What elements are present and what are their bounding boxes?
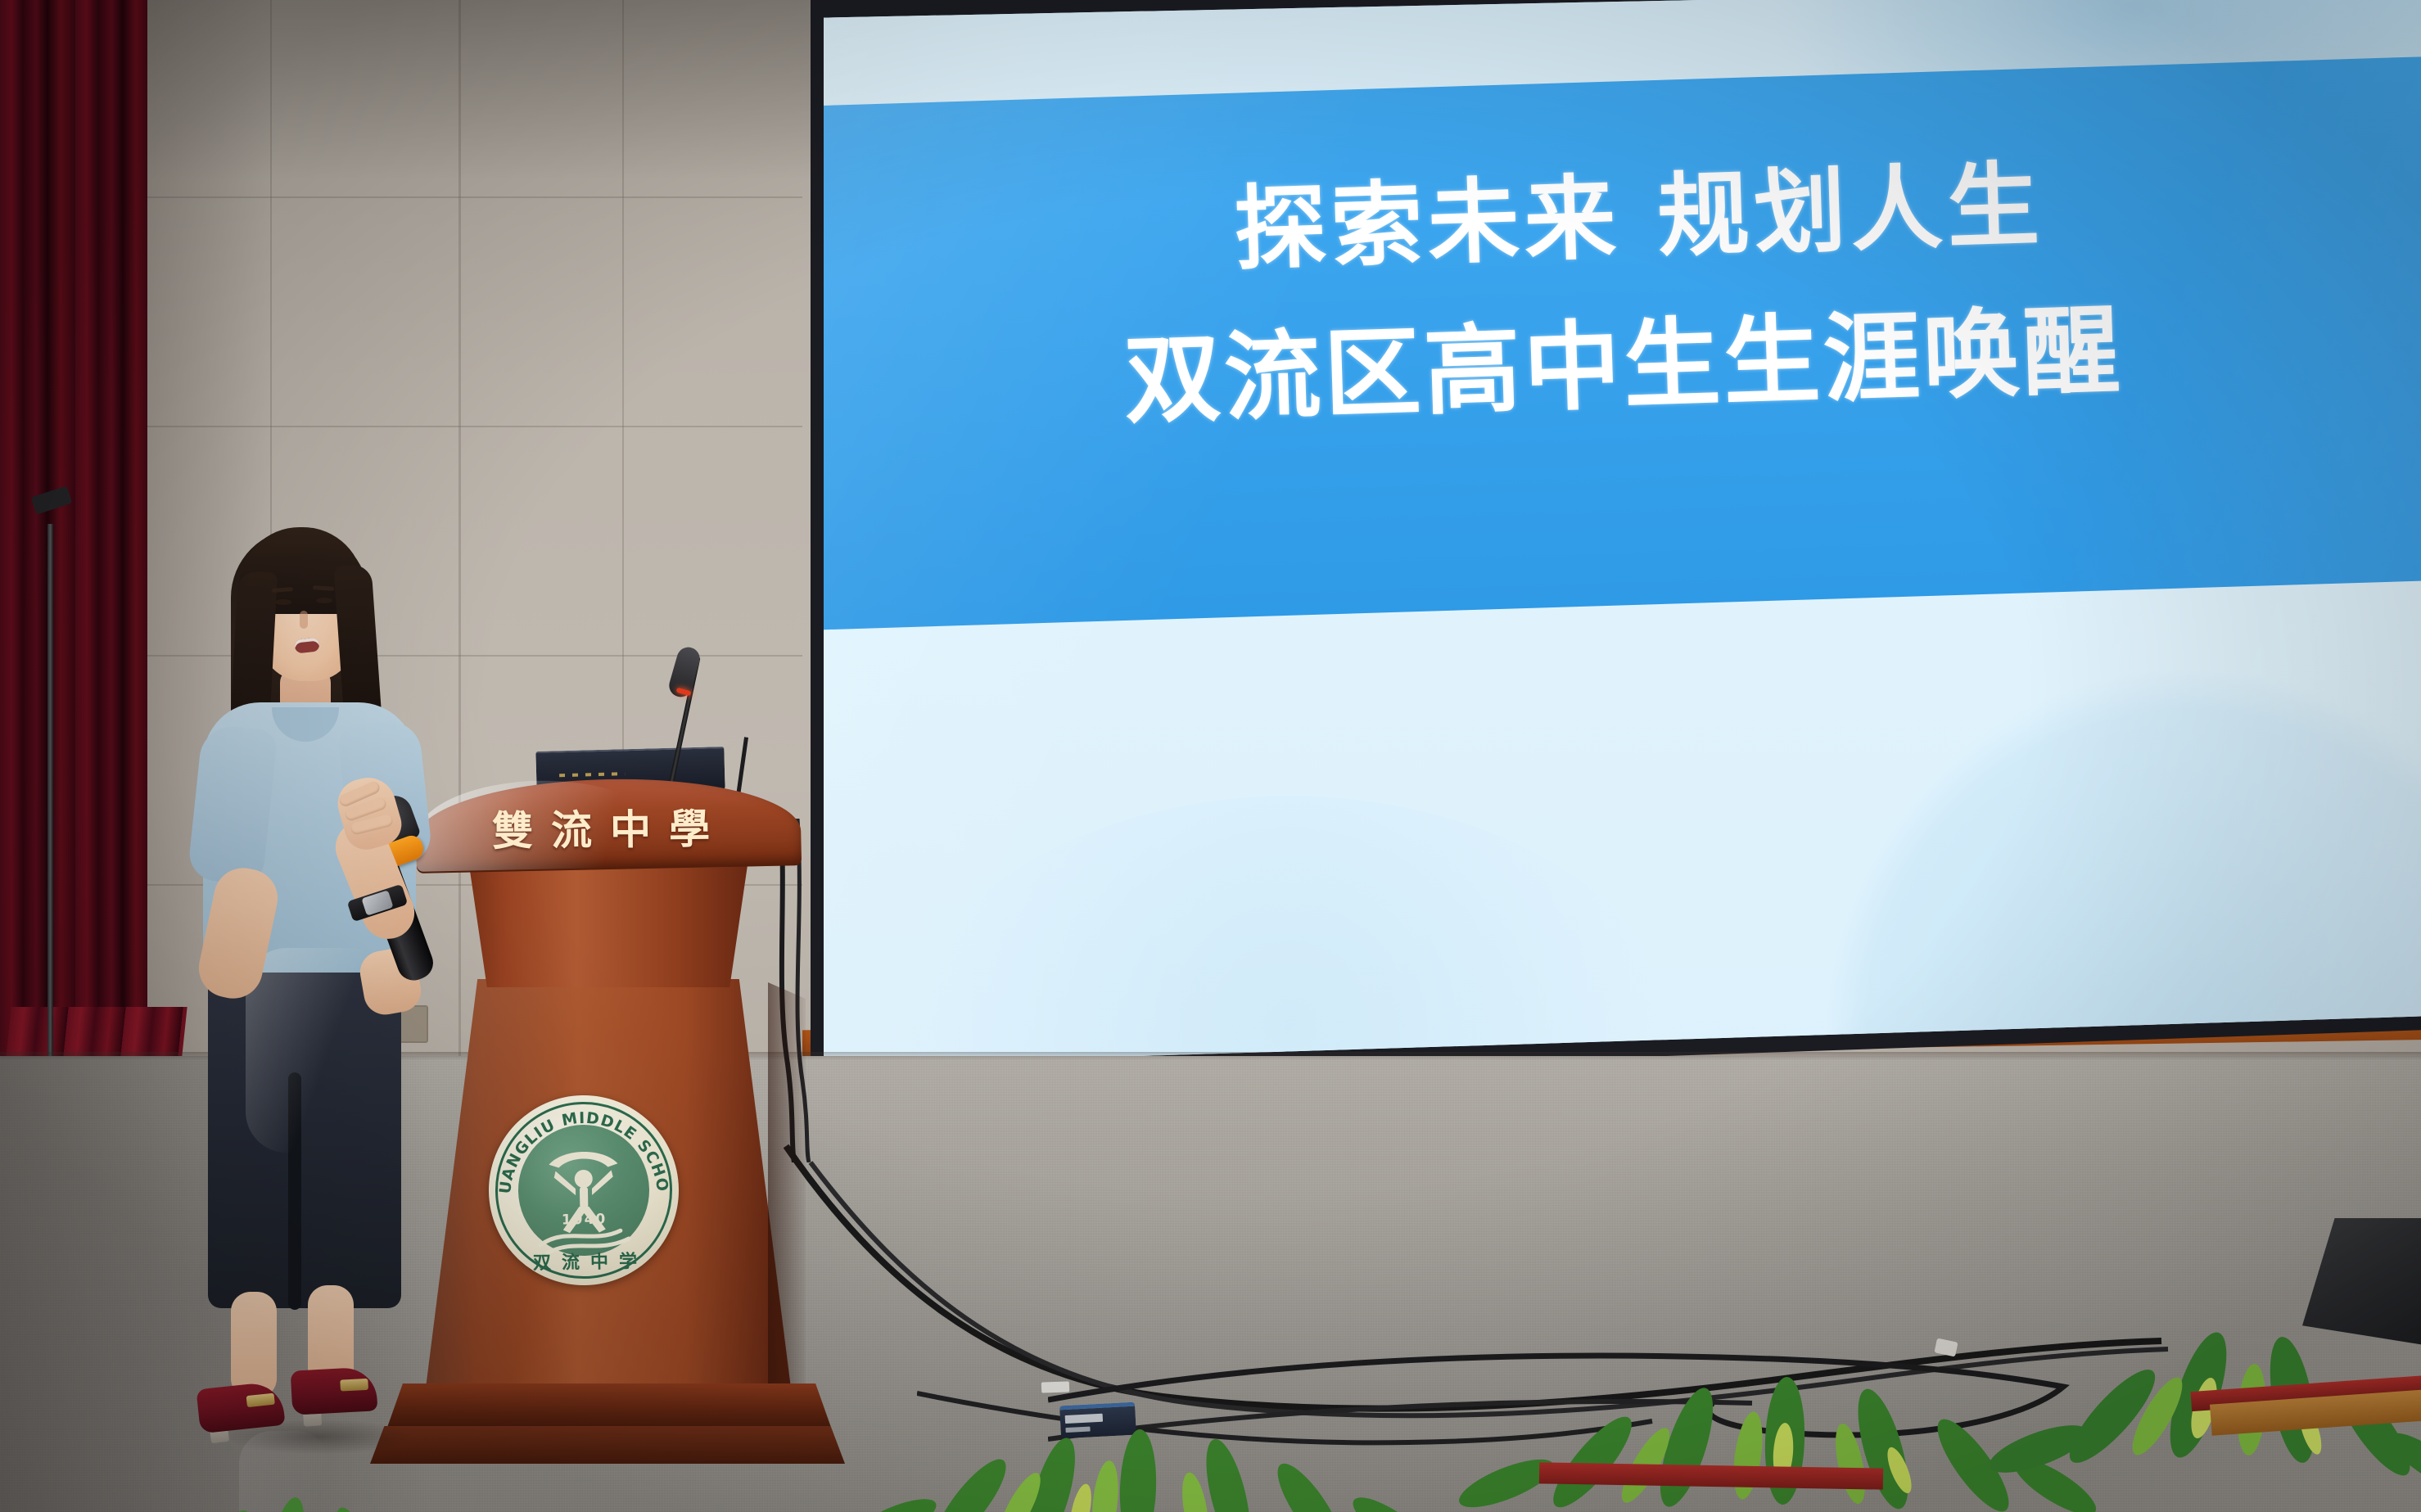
shoe-right	[291, 1366, 378, 1415]
podium-school-name: 雙流中學	[434, 796, 787, 858]
potted-plant-icon	[835, 1392, 1457, 1512]
shoe-buckle	[340, 1379, 368, 1392]
slide-title-block: 探索未来 规划人生 双流区高中生生涯唤醒	[1233, 142, 2421, 429]
podium-neck	[449, 856, 768, 987]
auditorium-stage-scene: 探索未来 规划人生 双流区高中生生涯唤醒	[0, 0, 2421, 1512]
podium-side-shade	[768, 982, 806, 1392]
presentation-slide: 探索未来 规划人生 双流区高中生生涯唤醒	[824, 0, 2421, 1066]
stage-curtain	[0, 0, 147, 1130]
projection-screen[interactable]: 探索未来 规划人生 双流区高中生生涯唤醒	[824, 0, 2421, 1066]
presenter	[188, 508, 450, 1457]
eye-right	[316, 598, 332, 603]
emblem-chinese-name: 双流中学	[490, 1246, 680, 1275]
shoe-buckle	[246, 1393, 275, 1407]
calf-left	[231, 1292, 277, 1398]
potted-plant-icon	[115, 1441, 458, 1512]
monitor-indicator-lights	[559, 772, 625, 777]
eye-left	[275, 599, 291, 605]
school-emblem-icon: SHUANGLIU MIDDLE SCHOOL 1940 双流中学	[487, 1094, 680, 1287]
emblem-founding-year: 1940	[489, 1210, 679, 1230]
nose	[300, 611, 308, 629]
